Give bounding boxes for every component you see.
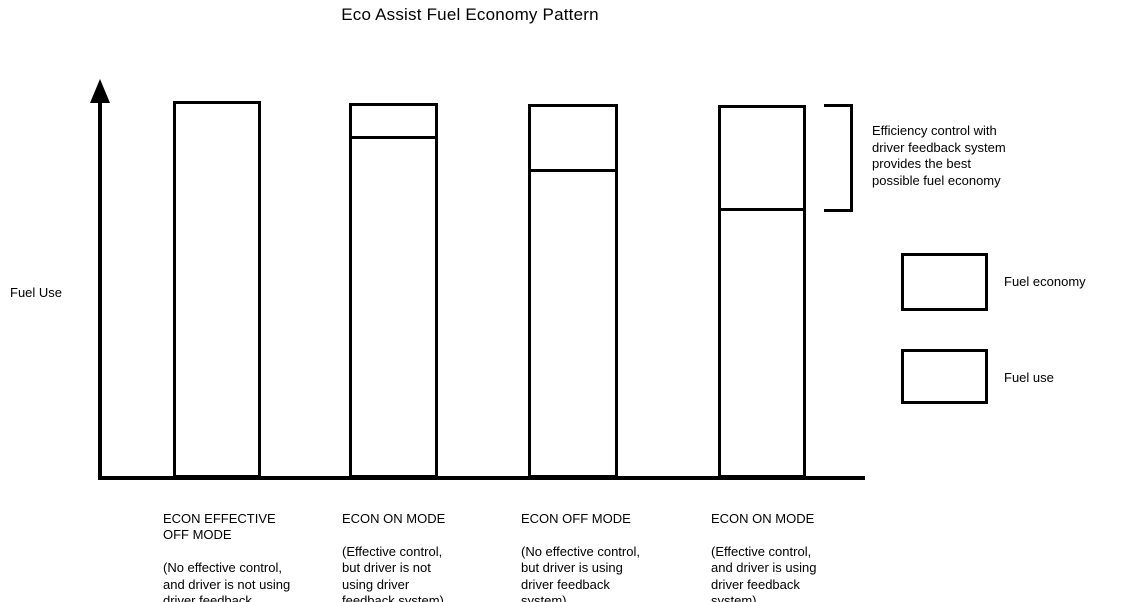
bar-3-segment-divider (528, 169, 618, 172)
chart-canvas: Eco Assist Fuel Economy Pattern Fuel Use… (0, 0, 1136, 602)
category-label-2: ECON ON MODE (Effective control, but dri… (342, 494, 522, 602)
legend-swatch-fuel-use (901, 349, 988, 404)
category-4-description: (Effective control, and driver is using … (711, 544, 891, 602)
annotation-bracket-icon (824, 104, 853, 212)
category-4-heading: ECON ON MODE (711, 511, 891, 528)
annotation-text: Efficiency control with driver feedback … (872, 123, 1092, 189)
y-axis-label: Fuel Use (10, 285, 62, 300)
y-axis-line (98, 101, 102, 480)
bar-econ-on-mode-with-feedback[interactable] (718, 105, 806, 478)
category-3-heading: ECON OFF MODE (521, 511, 701, 528)
bar-4-segment-divider (718, 208, 806, 211)
category-label-4: ECON ON MODE (Effective control, and dri… (711, 494, 891, 602)
legend-label-fuel-use: Fuel use (1004, 370, 1054, 385)
bar-econ-on-mode-no-feedback[interactable] (349, 103, 438, 478)
legend-label-fuel-economy: Fuel economy (1004, 274, 1086, 289)
category-2-description: (Effective control, but driver is not us… (342, 544, 522, 602)
category-label-1: ECON EFFECTIVE OFF MODE (No effective co… (163, 494, 343, 602)
category-label-3: ECON OFF MODE (No effective control, but… (521, 494, 701, 602)
bar-2-segment-divider (349, 136, 438, 139)
legend-swatch-fuel-economy (901, 253, 988, 311)
category-2-heading: ECON ON MODE (342, 511, 522, 528)
chart-title: Eco Assist Fuel Economy Pattern (0, 5, 940, 25)
category-3-description: (No effective control, but driver is usi… (521, 544, 701, 602)
category-1-heading: ECON EFFECTIVE OFF MODE (163, 511, 343, 544)
y-axis-arrow-icon (90, 79, 110, 103)
bar-econ-off-mode-with-feedback[interactable] (528, 104, 618, 478)
bar-econ-effective-off-mode[interactable] (173, 101, 261, 478)
category-1-description: (No effective control, and driver is not… (163, 560, 343, 602)
